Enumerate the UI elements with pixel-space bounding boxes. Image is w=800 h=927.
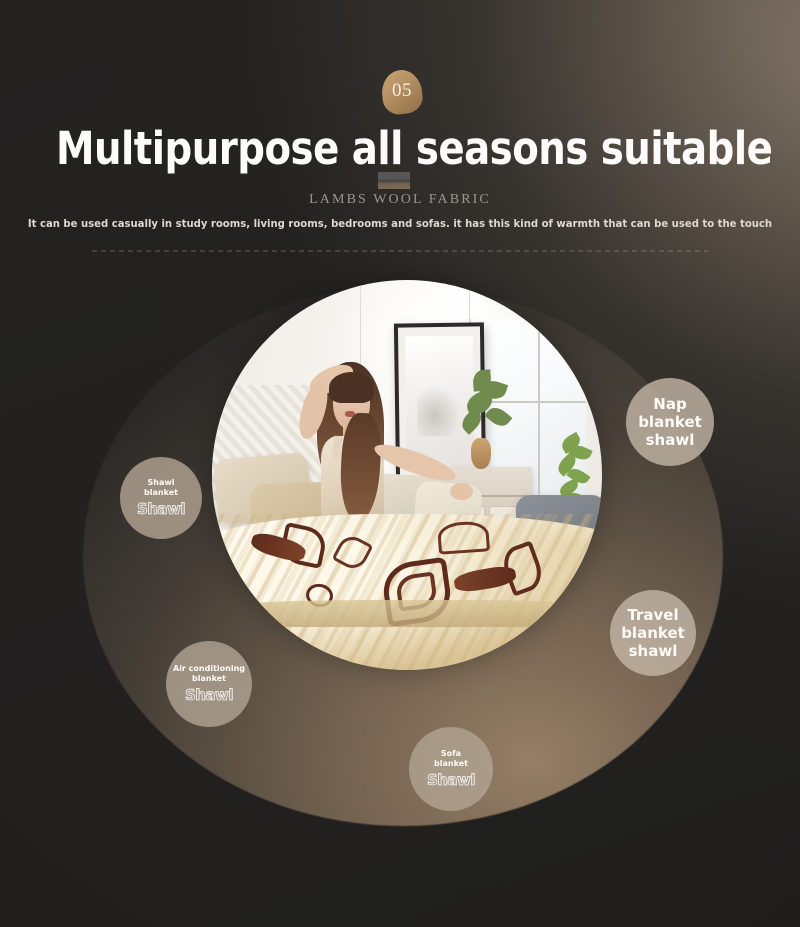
hero-room-photo — [212, 280, 602, 670]
feature-line: blanket — [192, 674, 226, 684]
photo-model-brow — [337, 395, 347, 398]
feature-line: Nap — [653, 395, 686, 413]
section-description: It can be used casually in study rooms, … — [16, 218, 784, 230]
feature-line: shawl — [629, 642, 678, 660]
photo-blanket-ornament — [437, 520, 490, 555]
feature-bubble-travel[interactable]: Travel blanket shawl — [610, 590, 696, 676]
feature-bubble-sofa[interactable]: Sofa blanket Shawl — [409, 727, 493, 811]
photo-vase — [471, 438, 491, 469]
feature-line: blanket — [621, 624, 685, 642]
feature-bubble-air-conditioning[interactable]: Air conditioning blanket Shawl — [166, 641, 252, 727]
photo-framed-art-ink — [417, 384, 462, 436]
photo-window-mullion-vertical — [538, 323, 540, 502]
promo-banner: 05 Multipurpose all seasons suitable LAM… — [0, 0, 800, 927]
feature-line: blanket — [144, 488, 178, 498]
feature-wordmark: Shawl — [137, 500, 185, 518]
feature-line: blanket — [434, 759, 468, 769]
brand-tagline: LAMBS WOOL FABRIC — [0, 192, 800, 208]
feature-line: Air conditioning — [173, 664, 245, 674]
section-number-label: 05 — [392, 80, 412, 102]
photo-model-hair-front — [329, 372, 374, 403]
photo-blanket-hem — [212, 600, 602, 627]
feature-wordmark: Shawl — [185, 686, 233, 704]
section-number-badge: 05 — [380, 68, 424, 116]
feature-line: blanket — [638, 413, 702, 431]
feature-line: Sofa — [441, 749, 461, 759]
feature-line: shawl — [646, 431, 695, 449]
feature-wordmark: Shawl — [427, 771, 475, 789]
fabric-thumbnail-icon — [378, 172, 410, 189]
feature-line: Travel — [627, 606, 678, 624]
photo-model-brow — [352, 394, 362, 397]
dotted-divider — [92, 250, 708, 252]
page-title: Multipurpose all seasons suitable — [56, 122, 744, 175]
feature-bubble-shawl[interactable]: Shawl blanket Shawl — [120, 457, 202, 539]
feature-line: Shawl — [148, 478, 175, 488]
feature-bubble-nap[interactable]: Nap blanket shawl — [626, 378, 714, 466]
